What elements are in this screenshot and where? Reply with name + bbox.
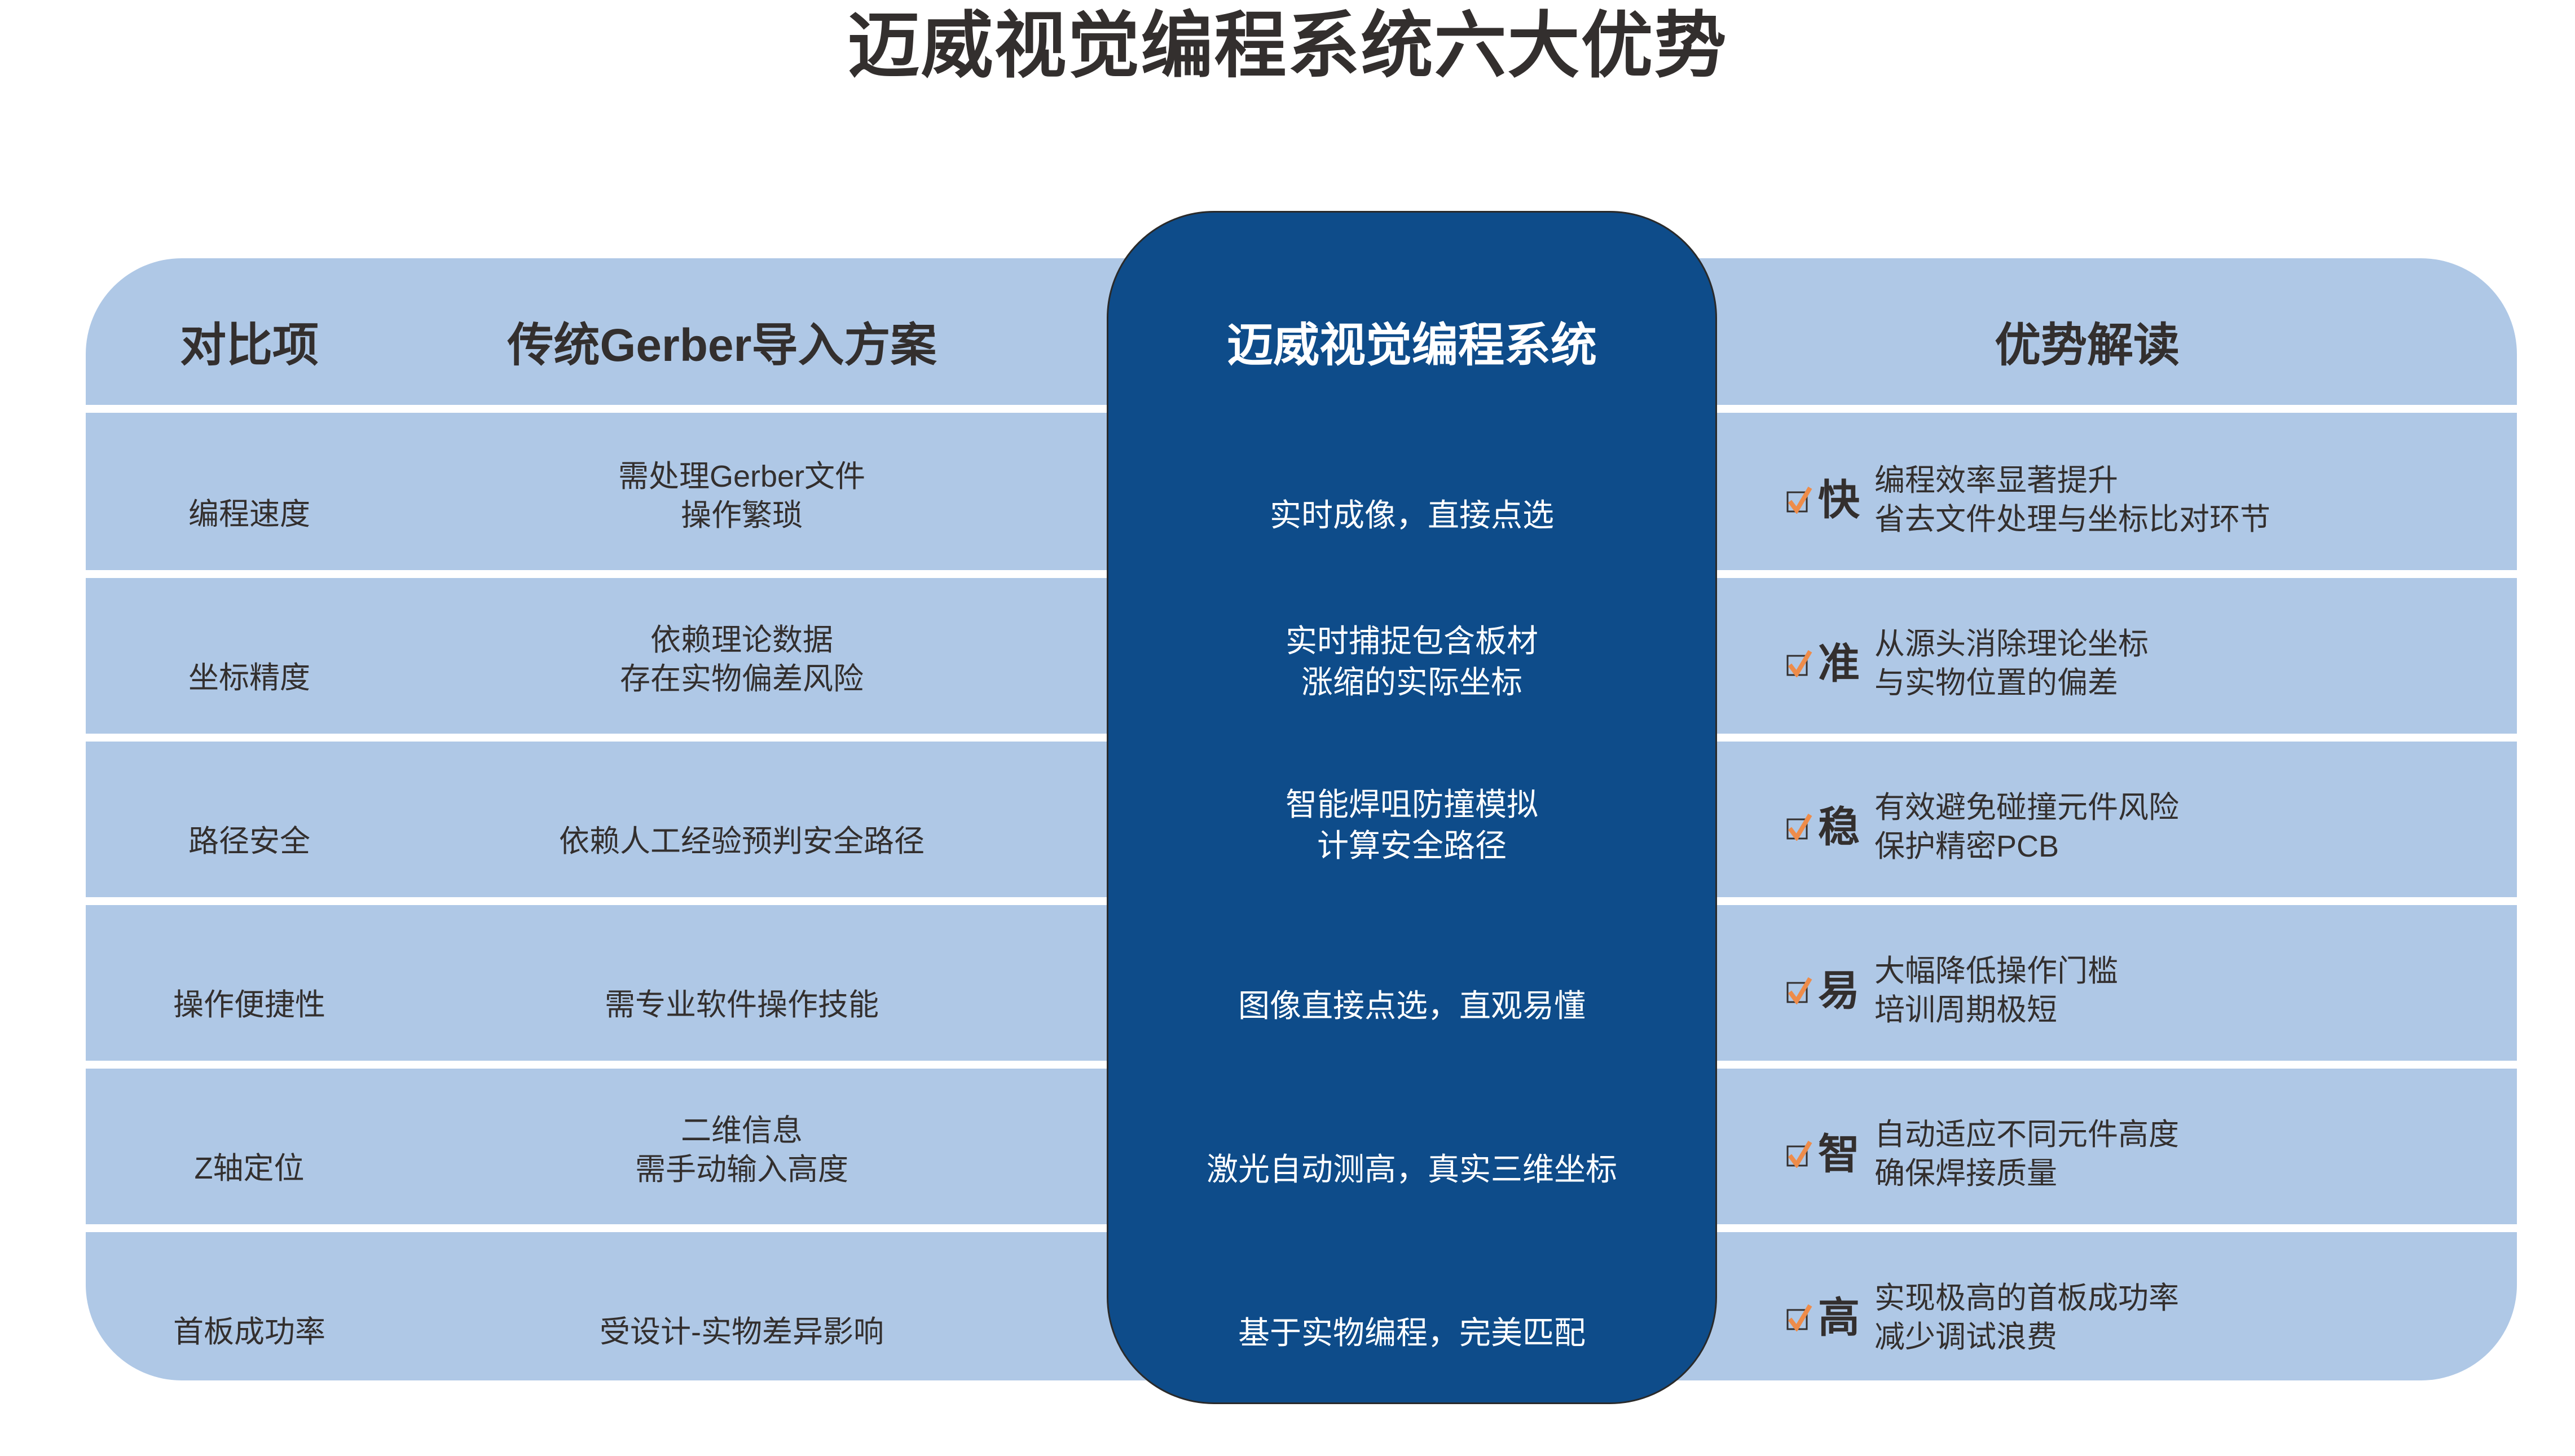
cell-traditional: 需专业软件操作技能	[415, 986, 1069, 1025]
cell-traditional: 受设计-实物差异影响	[415, 1313, 1069, 1352]
advantage-key-group: 智	[1785, 1133, 1860, 1175]
cell-traditional: 依赖人工经验预判安全路径	[395, 822, 1089, 861]
checkbox-checked-icon	[1785, 1304, 1812, 1331]
cell-item: 首板成功率	[131, 1313, 368, 1352]
advantage-description: 从源头消除理论坐标 与实物位置的偏差	[1874, 625, 2149, 703]
advantage-key-group: 快	[1785, 479, 1860, 521]
advantage-description: 实现极高的首板成功率 减少调试浪费	[1874, 1279, 2179, 1357]
infographic-root: 迈威视觉编程系统六大优势 对比项 传统Gerber导入方案 迈威视觉编程系统 优…	[0, 0, 2575, 1456]
cell-maiwei: 实时捕捉包含板材 涨缩的实际坐标	[1107, 621, 1717, 703]
cell-traditional: 依赖理论数据 存在实物偏差风险	[415, 621, 1069, 699]
advantage-block: 易 大幅降低操作门槛 培训周期极短	[1785, 952, 2118, 1030]
advantage-description: 编程效率显著提升 省去文件处理与坐标比对环节	[1874, 461, 2270, 539]
cell-maiwei: 激光自动测高，真实三维坐标	[1093, 1149, 1731, 1190]
advantage-description: 自动适应不同元件高度 确保焊接质量	[1874, 1115, 2179, 1193]
cell-traditional: 二维信息 需手动输入高度	[415, 1111, 1069, 1189]
advantage-block: 智 自动适应不同元件高度 确保焊接质量	[1785, 1115, 2179, 1193]
advantage-key: 快	[1818, 479, 1860, 521]
checkbox-checked-icon	[1785, 1141, 1812, 1168]
advantage-block: 稳 有效避免碰撞元件风险 保护精密PCB	[1785, 788, 2179, 866]
advantage-key: 准	[1818, 643, 1860, 685]
advantage-block: 准 从源头消除理论坐标 与实物位置的偏差	[1785, 625, 2149, 703]
advantage-description: 大幅降低操作门槛 培训周期极短	[1874, 952, 2118, 1030]
advantage-key: 易	[1818, 970, 1860, 1012]
cell-item: 操作便捷性	[131, 986, 368, 1025]
cell-item: 坐标精度	[131, 659, 368, 698]
cell-item: Z轴定位	[131, 1149, 368, 1188]
checkbox-checked-icon	[1785, 487, 1812, 514]
advantage-block: 快 编程效率显著提升 省去文件处理与坐标比对环节	[1785, 461, 2270, 539]
advantage-key: 高	[1818, 1297, 1860, 1339]
header-advantage: 优势解读	[1782, 307, 2392, 374]
header-compare-item: 对比项	[131, 307, 368, 374]
page-title: 迈威视觉编程系统六大优势	[0, 5, 2575, 87]
advantage-key-group: 高	[1785, 1297, 1860, 1339]
checkbox-checked-icon	[1785, 977, 1812, 1004]
advantage-key: 稳	[1818, 806, 1860, 848]
advantage-description: 有效避免碰撞元件风险 保护精密PCB	[1874, 788, 2179, 866]
advantage-block: 高 实现极高的首板成功率 减少调试浪费	[1785, 1279, 2179, 1357]
checkbox-checked-icon	[1785, 814, 1812, 841]
header-traditional: 传统Gerber导入方案	[415, 307, 1029, 374]
advantage-key-group: 易	[1785, 970, 1860, 1012]
cell-item: 路径安全	[131, 822, 368, 861]
cell-maiwei: 基于实物编程，完美匹配	[1107, 1313, 1717, 1354]
cell-traditional: 需处理Gerber文件 操作繁琐	[415, 457, 1069, 535]
cell-maiwei: 实时成像，直接点选	[1107, 495, 1717, 536]
cell-maiwei: 智能焊咀防撞模拟 计算安全路径	[1107, 784, 1717, 867]
checkbox-checked-icon	[1785, 650, 1812, 677]
header-maiwei: 迈威视觉编程系统	[1107, 307, 1717, 374]
advantage-key-group: 稳	[1785, 806, 1860, 848]
advantage-key: 智	[1818, 1133, 1860, 1175]
cell-maiwei: 图像直接点选，直观易懂	[1107, 986, 1717, 1027]
advantage-key-group: 准	[1785, 643, 1860, 685]
cell-item: 编程速度	[131, 495, 368, 534]
